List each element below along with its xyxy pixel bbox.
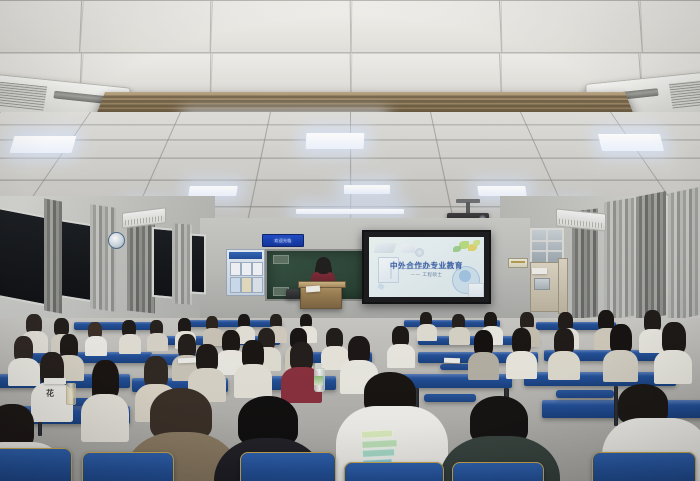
paper-sheet [444, 358, 460, 364]
gray-curtain [636, 191, 666, 321]
paper-sheet [306, 286, 320, 293]
blue-folding-seat [82, 452, 174, 481]
ceiling-tile [499, 0, 643, 54]
leaf-icon [453, 246, 461, 252]
blue-lecture-desk [74, 322, 160, 330]
panel-light [296, 209, 404, 214]
led-banner: 欢迎光临 [262, 234, 304, 247]
blue-folding-seat [452, 462, 544, 481]
cabinet-window [534, 278, 550, 290]
panel-light [188, 186, 238, 196]
panel-light [10, 136, 77, 153]
paper-sheet [44, 378, 66, 384]
presenter-hair [316, 257, 331, 274]
ceiling-tile [210, 0, 353, 54]
panel-light [598, 134, 664, 151]
blue-folding-seat [424, 394, 476, 402]
panel-light [306, 133, 365, 149]
shirt-print: 花 [46, 388, 54, 399]
panel-light [477, 186, 526, 196]
lecture-hall-photo: 欢迎光临 中外合作办专业教育 [0, 0, 700, 481]
poster-header [229, 252, 262, 259]
slide-canvas: 中外合作办专业教育 —— 工程硕士 [369, 237, 484, 297]
led-banner-text: 欢迎光临 [274, 238, 291, 244]
ceiling-tile [0, 0, 84, 54]
blue-lecture-desk [186, 320, 282, 327]
ceiling-tile [350, 0, 503, 54]
gray-curtain [127, 215, 155, 314]
ceiling-tile [638, 0, 700, 54]
gray-curtain [172, 223, 192, 304]
blue-folding-seat [240, 452, 336, 481]
paper-sheet [178, 358, 196, 364]
bottle-label [314, 376, 323, 385]
wall-sign [508, 258, 528, 268]
gray-curtain [604, 198, 634, 321]
blue-folding-seat [556, 390, 614, 398]
water-bottle [66, 383, 76, 405]
gray-curtain [90, 204, 116, 312]
tshirt-graphic-bar [362, 448, 395, 458]
slide-subtitle: —— 工程硕士 [369, 272, 484, 278]
tshirt-graphic-bar [361, 429, 393, 439]
paper-sheet [532, 268, 547, 274]
gray-curtain [44, 198, 62, 313]
panel-light [344, 185, 390, 194]
leaf-icon [473, 240, 480, 246]
wooden-podium [300, 283, 342, 309]
storage-cabinet[interactable] [558, 258, 568, 314]
blue-folding-seat [592, 452, 696, 481]
tshirt-graphic-bar [361, 439, 397, 449]
ceiling-tile [79, 0, 213, 54]
wall-clock [108, 232, 125, 249]
blue-folding-seat [344, 462, 444, 481]
blue-folding-seat [0, 448, 72, 481]
podium-monitor [286, 289, 299, 299]
wall-bulletin-poster [226, 249, 265, 296]
projection-screen: 中外合作办专业教育 —— 工程硕士 [362, 230, 491, 304]
window [190, 234, 206, 295]
gray-curtain [668, 186, 700, 321]
slide-title-underline [399, 268, 454, 269]
